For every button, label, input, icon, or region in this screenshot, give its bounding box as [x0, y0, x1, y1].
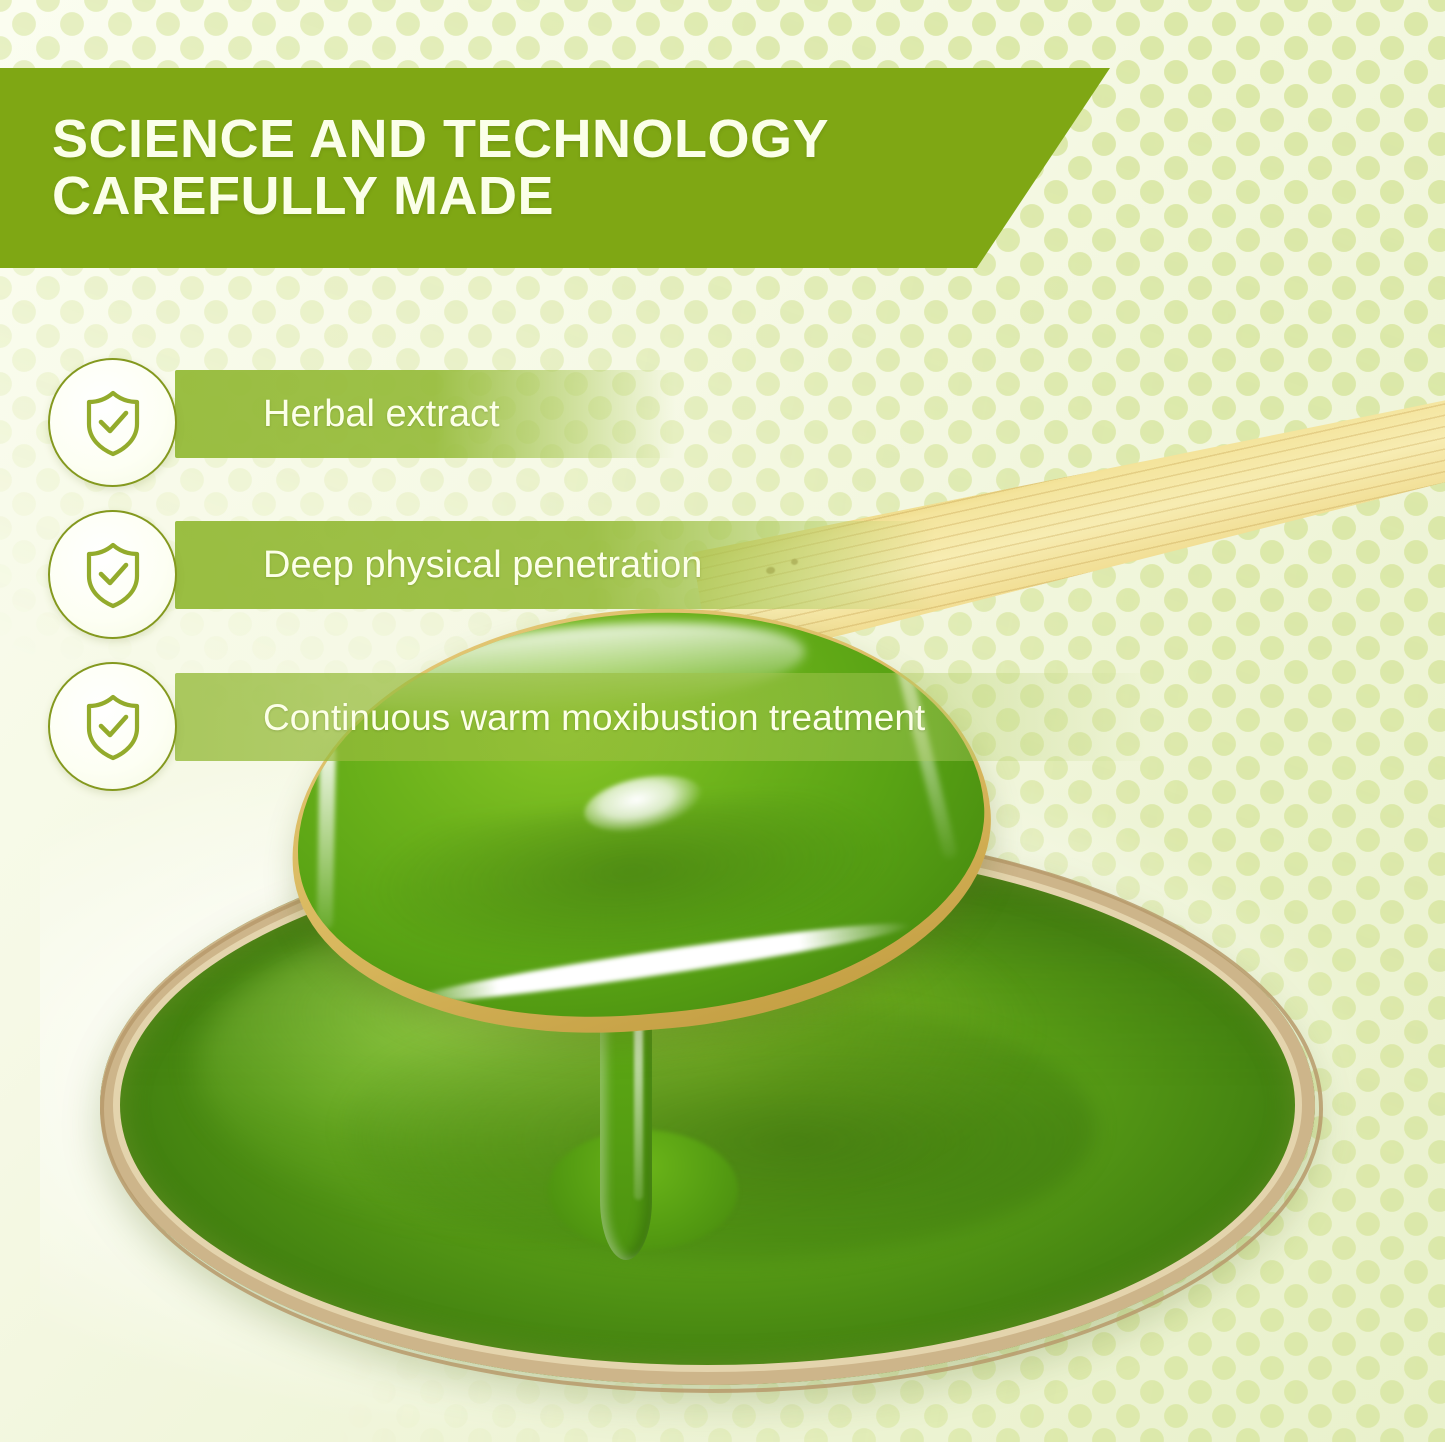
feature-bar: Continuous warm moxibustion treatment [175, 673, 1150, 761]
feature-bar: Herbal extract [175, 370, 675, 458]
shield-check-icon [48, 358, 177, 487]
product-feature-poster: SCIENCE AND TECHNOLOGY CAREFULLY MADE He… [0, 0, 1445, 1442]
feature-item-continuous-warm-moxibustion-treatment: Continuous warm moxibustion treatment [48, 662, 177, 791]
shield-check-icon [48, 662, 177, 791]
feature-list: Herbal extract Deep physical penetration [0, 0, 1445, 1442]
feature-bar: Deep physical penetration [175, 521, 935, 609]
feature-label: Continuous warm moxibustion treatment [175, 699, 925, 736]
feature-item-deep-physical-penetration: Deep physical penetration [48, 510, 177, 639]
feature-label: Herbal extract [175, 395, 500, 433]
feature-item-herbal-extract: Herbal extract [48, 358, 177, 487]
feature-label: Deep physical penetration [175, 546, 702, 584]
shield-check-icon [48, 510, 177, 639]
